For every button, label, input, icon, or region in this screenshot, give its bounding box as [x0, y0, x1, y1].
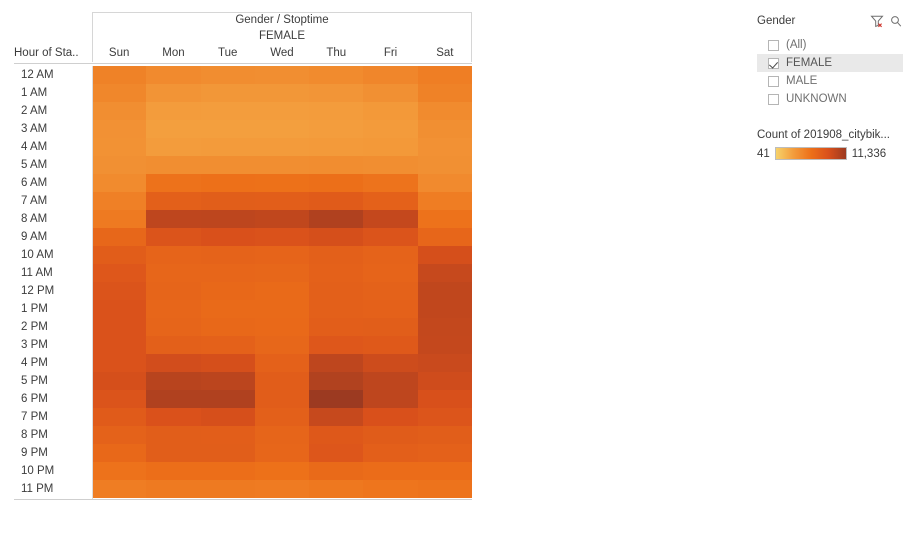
heatmap-cell[interactable] — [92, 372, 146, 390]
heatmap-cell[interactable] — [255, 282, 309, 300]
checkbox-icon[interactable] — [768, 94, 779, 105]
day-header-mon: Mon — [146, 45, 200, 62]
heatmap-cell[interactable] — [92, 120, 146, 138]
hour-label: 8 PM — [14, 426, 92, 444]
heatmap-row: 2 PM — [14, 318, 472, 336]
filter-option-male[interactable]: MALE — [757, 72, 903, 90]
heatmap-cell[interactable] — [418, 300, 472, 318]
heatmap-row-cells — [92, 480, 472, 498]
heatmap-cell[interactable] — [363, 84, 417, 102]
heatmap-row: 6 PM — [14, 390, 472, 408]
heatmap-cell[interactable] — [309, 444, 363, 462]
heatmap-row: 4 PM — [14, 354, 472, 372]
hour-label: 10 PM — [14, 462, 92, 480]
heatmap-row: 9 PM — [14, 444, 472, 462]
heatmap-row-cells — [92, 390, 472, 408]
heatmap-cell[interactable] — [418, 318, 472, 336]
heatmap-cell[interactable] — [255, 156, 309, 174]
heatmap-cell[interactable] — [92, 408, 146, 426]
heatmap-cell[interactable] — [255, 102, 309, 120]
heatmap-cell[interactable] — [363, 228, 417, 246]
heatmap-row-cells — [92, 264, 472, 282]
heatmap-cell[interactable] — [146, 426, 200, 444]
hour-label: 7 AM — [14, 192, 92, 210]
heatmap-cell[interactable] — [363, 354, 417, 372]
heatmap-cell[interactable] — [146, 228, 200, 246]
heatmap-row: 8 AM — [14, 210, 472, 228]
heatmap-cell[interactable] — [255, 390, 309, 408]
heatmap-cell[interactable] — [418, 480, 472, 498]
heatmap-cell[interactable] — [309, 426, 363, 444]
heatmap-cell[interactable] — [92, 264, 146, 282]
grid-bottom-edge — [14, 499, 472, 500]
heatmap-cell[interactable] — [255, 264, 309, 282]
heatmap-cell[interactable] — [255, 84, 309, 102]
heatmap-row: 10 PM — [14, 462, 472, 480]
filter-option-label: FEMALE — [786, 57, 832, 69]
heatmap-cell[interactable] — [146, 300, 200, 318]
heatmap-cell[interactable] — [363, 156, 417, 174]
heatmap-cell[interactable] — [309, 480, 363, 498]
heatmap-cell[interactable] — [201, 156, 255, 174]
heatmap-row: 12 PM — [14, 282, 472, 300]
heatmap-cell[interactable] — [146, 372, 200, 390]
heatmap-cell[interactable] — [363, 444, 417, 462]
heatmap-cell[interactable] — [255, 174, 309, 192]
heatmap-cell[interactable] — [418, 228, 472, 246]
hour-label: 10 AM — [14, 246, 92, 264]
day-header-wed: Wed — [255, 45, 309, 62]
heatmap-cell[interactable] — [363, 120, 417, 138]
hour-label: 6 AM — [14, 174, 92, 192]
heatmap-cell[interactable] — [363, 264, 417, 282]
filter-option-label: MALE — [786, 75, 817, 87]
heatmap-cell[interactable] — [255, 426, 309, 444]
legend-scale: 41 11,336 — [757, 147, 903, 160]
heatmap-cell[interactable] — [146, 192, 200, 210]
heatmap-cell[interactable] — [309, 192, 363, 210]
heatmap-cell[interactable] — [418, 138, 472, 156]
heatmap-dashboard: Gender / Stoptime FEMALE SunMonTueWedThu… — [0, 0, 903, 537]
heatmap-row-cells — [92, 282, 472, 300]
heatmap-row: 7 AM — [14, 192, 472, 210]
heatmap-cell[interactable] — [255, 354, 309, 372]
heatmap-cell[interactable] — [92, 84, 146, 102]
heatmap-cell[interactable] — [255, 480, 309, 498]
heatmap-cell[interactable] — [255, 372, 309, 390]
heatmap-cell[interactable] — [309, 282, 363, 300]
hour-label: 5 AM — [14, 156, 92, 174]
filter-header: Gender — [757, 12, 903, 30]
heatmap-row: 8 PM — [14, 426, 472, 444]
heatmap-cell[interactable] — [363, 336, 417, 354]
hour-label: 5 PM — [14, 372, 92, 390]
heatmap-cell[interactable] — [418, 156, 472, 174]
day-header-row: SunMonTueWedThuFriSat — [92, 45, 472, 62]
heatmap-grid: 12 AM1 AM2 AM3 AM4 AM5 AM6 AM7 AM8 AM9 A… — [14, 66, 472, 498]
heatmap-cell[interactable] — [92, 444, 146, 462]
heatmap-cell[interactable] — [363, 102, 417, 120]
heatmap-cell[interactable] — [255, 138, 309, 156]
heatmap-cell[interactable] — [201, 102, 255, 120]
heatmap-cell[interactable] — [201, 84, 255, 102]
heatmap-row-cells — [92, 84, 472, 102]
heatmap-cell[interactable] — [255, 444, 309, 462]
heatmap-cell[interactable] — [201, 210, 255, 228]
heatmap-cell[interactable] — [309, 210, 363, 228]
heatmap-cell[interactable] — [146, 480, 200, 498]
heatmap-row-cells — [92, 300, 472, 318]
heatmap-cell[interactable] — [92, 462, 146, 480]
heatmap-cell[interactable] — [309, 138, 363, 156]
checkbox-icon[interactable] — [768, 58, 779, 69]
heatmap-cell[interactable] — [418, 462, 472, 480]
day-header-sun: Sun — [92, 45, 146, 62]
heatmap-row-cells — [92, 408, 472, 426]
heatmap-cell[interactable] — [363, 300, 417, 318]
heatmap-cell[interactable] — [201, 444, 255, 462]
heatmap-cell[interactable] — [363, 462, 417, 480]
heatmap-cell[interactable] — [309, 264, 363, 282]
column-header: Gender / Stoptime FEMALE — [92, 12, 472, 44]
heatmap-cell[interactable] — [255, 228, 309, 246]
heatmap-cell[interactable] — [255, 408, 309, 426]
heatmap-row-cells — [92, 156, 472, 174]
heatmap-cell[interactable] — [146, 390, 200, 408]
hour-label: 11 PM — [14, 480, 92, 498]
side-panel: Gender (All)FEMALEMALEUNKNOWN Co — [757, 12, 903, 160]
heatmap-cell[interactable] — [418, 336, 472, 354]
heatmap-cell[interactable] — [201, 300, 255, 318]
heatmap-cell[interactable] — [309, 300, 363, 318]
hour-label: 1 AM — [14, 84, 92, 102]
heatmap-row: 9 AM — [14, 228, 472, 246]
heatmap-cell[interactable] — [309, 102, 363, 120]
filter-option-all[interactable]: (All) — [757, 36, 903, 54]
heatmap-row-cells — [92, 138, 472, 156]
heatmap-cell[interactable] — [363, 318, 417, 336]
heatmap-cell[interactable] — [146, 210, 200, 228]
hour-label: 6 PM — [14, 390, 92, 408]
heatmap-row: 11 PM — [14, 480, 472, 498]
hour-label: 11 AM — [14, 264, 92, 282]
heatmap-cell[interactable] — [255, 336, 309, 354]
heatmap-cell[interactable] — [146, 246, 200, 264]
heatmap-cell[interactable] — [363, 282, 417, 300]
heatmap-row: 2 AM — [14, 102, 472, 120]
heatmap-row: 11 AM — [14, 264, 472, 282]
hour-label: 7 PM — [14, 408, 92, 426]
heatmap-cell[interactable] — [201, 480, 255, 498]
heatmap-row-cells — [92, 210, 472, 228]
heatmap-cell[interactable] — [92, 246, 146, 264]
grid-left-edge — [92, 66, 93, 499]
heatmap-cell[interactable] — [146, 174, 200, 192]
filter-header-icons — [870, 14, 903, 28]
heatmap-cell[interactable] — [146, 408, 200, 426]
heatmap-row: 5 PM — [14, 372, 472, 390]
heatmap-cell[interactable] — [418, 210, 472, 228]
heatmap-cell[interactable] — [146, 156, 200, 174]
heatmap-cell[interactable] — [363, 66, 417, 84]
heatmap-row: 12 AM — [14, 66, 472, 84]
heatmap-cell[interactable] — [255, 246, 309, 264]
heatmap-cell[interactable] — [92, 228, 146, 246]
heatmap-cell[interactable] — [92, 318, 146, 336]
filter-option-label: UNKNOWN — [786, 93, 847, 105]
hour-label: 4 PM — [14, 354, 92, 372]
color-legend: Count of 201908_citybik... 41 11,336 — [757, 129, 903, 160]
heatmap-cell[interactable] — [146, 66, 200, 84]
heatmap-cell[interactable] — [418, 426, 472, 444]
hour-label: 4 AM — [14, 138, 92, 156]
heatmap-cell[interactable] — [92, 138, 146, 156]
heatmap-cell[interactable] — [363, 246, 417, 264]
heatmap-cell[interactable] — [255, 318, 309, 336]
heatmap-cell[interactable] — [146, 120, 200, 138]
heatmap-cell[interactable] — [146, 444, 200, 462]
heatmap-cell[interactable] — [146, 102, 200, 120]
checkbox-icon[interactable] — [768, 40, 779, 51]
heatmap-row-cells — [92, 318, 472, 336]
heatmap-cell[interactable] — [309, 408, 363, 426]
heatmap-cell[interactable] — [92, 336, 146, 354]
heatmap-cell[interactable] — [418, 192, 472, 210]
heatmap-cell[interactable] — [309, 156, 363, 174]
heatmap-cell[interactable] — [418, 246, 472, 264]
filter-title: Gender — [757, 15, 795, 27]
heatmap-cell[interactable] — [92, 300, 146, 318]
heatmap-row: 10 AM — [14, 246, 472, 264]
heatmap-row-cells — [92, 246, 472, 264]
heatmap-cell[interactable] — [309, 84, 363, 102]
heatmap-cell[interactable] — [363, 390, 417, 408]
heatmap-cell[interactable] — [363, 174, 417, 192]
heatmap-row: 7 PM — [14, 408, 472, 426]
heatmap-cell[interactable] — [255, 192, 309, 210]
heatmap-cell[interactable] — [146, 318, 200, 336]
heatmap-cell[interactable] — [309, 354, 363, 372]
heatmap-cell[interactable] — [92, 426, 146, 444]
heatmap-cell[interactable] — [146, 84, 200, 102]
heatmap-cell[interactable] — [201, 462, 255, 480]
day-header-tue: Tue — [201, 45, 255, 62]
heatmap-row: 5 AM — [14, 156, 472, 174]
axis-rule — [14, 63, 472, 64]
heatmap-cell[interactable] — [309, 318, 363, 336]
heatmap-row: 3 AM — [14, 120, 472, 138]
filter-option-female[interactable]: FEMALE — [757, 54, 903, 72]
heatmap-cell[interactable] — [255, 462, 309, 480]
legend-max-value: 11,336 — [852, 148, 886, 160]
day-header-fri: Fri — [363, 45, 417, 62]
heatmap-cell[interactable] — [418, 66, 472, 84]
heatmap-row-cells — [92, 102, 472, 120]
heatmap-cell[interactable] — [146, 264, 200, 282]
heatmap-cell[interactable] — [201, 264, 255, 282]
heatmap-cell[interactable] — [363, 408, 417, 426]
heatmap-cell[interactable] — [92, 156, 146, 174]
hour-label: 1 PM — [14, 300, 92, 318]
heatmap-cell[interactable] — [92, 282, 146, 300]
heatmap-cell[interactable] — [418, 444, 472, 462]
heatmap-cell[interactable] — [201, 228, 255, 246]
heatmap-cell[interactable] — [201, 282, 255, 300]
heatmap-row-cells — [92, 120, 472, 138]
heatmap-cell[interactable] — [92, 102, 146, 120]
heatmap-row-cells — [92, 462, 472, 480]
heatmap-cell[interactable] — [201, 174, 255, 192]
hour-label: 8 AM — [14, 210, 92, 228]
heatmap-cell[interactable] — [255, 66, 309, 84]
heatmap-cell[interactable] — [201, 192, 255, 210]
heatmap-cell[interactable] — [309, 336, 363, 354]
funnel-clear-icon[interactable] — [870, 14, 884, 28]
heatmap-cell[interactable] — [92, 174, 146, 192]
hour-label: 2 PM — [14, 318, 92, 336]
heatmap-cell[interactable] — [201, 336, 255, 354]
heatmap-cell[interactable] — [418, 84, 472, 102]
heatmap-row-cells — [92, 336, 472, 354]
hour-label: 12 PM — [14, 282, 92, 300]
hour-label: 2 AM — [14, 102, 92, 120]
heatmap-viz: Gender / Stoptime FEMALE SunMonTueWedThu… — [0, 0, 480, 510]
checkbox-icon[interactable] — [768, 76, 779, 87]
heatmap-row: 3 PM — [14, 336, 472, 354]
heatmap-cell[interactable] — [201, 354, 255, 372]
heatmap-cell[interactable] — [363, 372, 417, 390]
legend-gradient-bar — [775, 147, 847, 160]
heatmap-cell[interactable] — [92, 354, 146, 372]
heatmap-cell[interactable] — [363, 138, 417, 156]
heatmap-row: 4 AM — [14, 138, 472, 156]
heatmap-cell[interactable] — [201, 138, 255, 156]
hour-label: 12 AM — [14, 66, 92, 84]
filter-option-unknown[interactable]: UNKNOWN — [757, 90, 903, 108]
heatmap-cell[interactable] — [146, 336, 200, 354]
heatmap-cell[interactable] — [418, 372, 472, 390]
legend-min-value: 41 — [757, 148, 770, 160]
heatmap-cell[interactable] — [201, 120, 255, 138]
heatmap-cell[interactable] — [309, 228, 363, 246]
heatmap-cell[interactable] — [418, 120, 472, 138]
hour-label: 3 AM — [14, 120, 92, 138]
legend-title: Count of 201908_citybik... — [757, 129, 903, 141]
gender-filter-list[interactable]: (All)FEMALEMALEUNKNOWN — [757, 36, 903, 108]
heatmap-cell[interactable] — [418, 264, 472, 282]
heatmap-cell[interactable] — [92, 192, 146, 210]
filter-option-label: (All) — [786, 39, 806, 51]
heatmap-cell[interactable] — [309, 462, 363, 480]
search-icon[interactable] — [889, 14, 903, 28]
day-header-thu: Thu — [309, 45, 363, 62]
heatmap-cell[interactable] — [363, 426, 417, 444]
heatmap-cell[interactable] — [418, 282, 472, 300]
heatmap-cell[interactable] — [201, 408, 255, 426]
heatmap-cell[interactable] — [255, 120, 309, 138]
column-field-title: Gender / Stoptime — [92, 12, 472, 28]
heatmap-row: 1 PM — [14, 300, 472, 318]
heatmap-cell[interactable] — [418, 102, 472, 120]
heatmap-cell[interactable] — [92, 66, 146, 84]
heatmap-cell[interactable] — [418, 390, 472, 408]
heatmap-cell[interactable] — [146, 282, 200, 300]
heatmap-cell[interactable] — [255, 300, 309, 318]
heatmap-cell[interactable] — [146, 462, 200, 480]
hour-label: 9 AM — [14, 228, 92, 246]
heatmap-cell[interactable] — [201, 246, 255, 264]
heatmap-cell[interactable] — [92, 210, 146, 228]
hour-label: 9 PM — [14, 444, 92, 462]
heatmap-cell[interactable] — [92, 480, 146, 498]
heatmap-row: 6 AM — [14, 174, 472, 192]
heatmap-row-cells — [92, 372, 472, 390]
heatmap-cell[interactable] — [201, 426, 255, 444]
heatmap-row-cells — [92, 426, 472, 444]
heatmap-cell[interactable] — [363, 192, 417, 210]
heatmap-cell[interactable] — [201, 318, 255, 336]
heatmap-cell[interactable] — [309, 390, 363, 408]
heatmap-row: 1 AM — [14, 84, 472, 102]
heatmap-cell[interactable] — [309, 246, 363, 264]
row-axis-title: Hour of Sta.. — [14, 45, 92, 62]
heatmap-row-cells — [92, 354, 472, 372]
heatmap-cell[interactable] — [309, 66, 363, 84]
heatmap-cell[interactable] — [418, 174, 472, 192]
heatmap-cell[interactable] — [201, 66, 255, 84]
heatmap-row-cells — [92, 228, 472, 246]
heatmap-cell[interactable] — [309, 120, 363, 138]
heatmap-cell[interactable] — [201, 390, 255, 408]
heatmap-row-cells — [92, 174, 472, 192]
heatmap-row-cells — [92, 66, 472, 84]
heatmap-cell[interactable] — [418, 354, 472, 372]
heatmap-cell[interactable] — [201, 372, 255, 390]
heatmap-cell[interactable] — [309, 174, 363, 192]
heatmap-row-cells — [92, 444, 472, 462]
heatmap-cell[interactable] — [92, 390, 146, 408]
day-header-sat: Sat — [418, 45, 472, 62]
heatmap-cell[interactable] — [309, 372, 363, 390]
heatmap-row-cells — [92, 192, 472, 210]
column-member-label: FEMALE — [92, 28, 472, 44]
heatmap-cell[interactable] — [363, 480, 417, 498]
hour-label: 3 PM — [14, 336, 92, 354]
heatmap-cell[interactable] — [418, 408, 472, 426]
heatmap-cell[interactable] — [255, 210, 309, 228]
heatmap-cell[interactable] — [146, 354, 200, 372]
heatmap-cell[interactable] — [363, 210, 417, 228]
heatmap-cell[interactable] — [146, 138, 200, 156]
